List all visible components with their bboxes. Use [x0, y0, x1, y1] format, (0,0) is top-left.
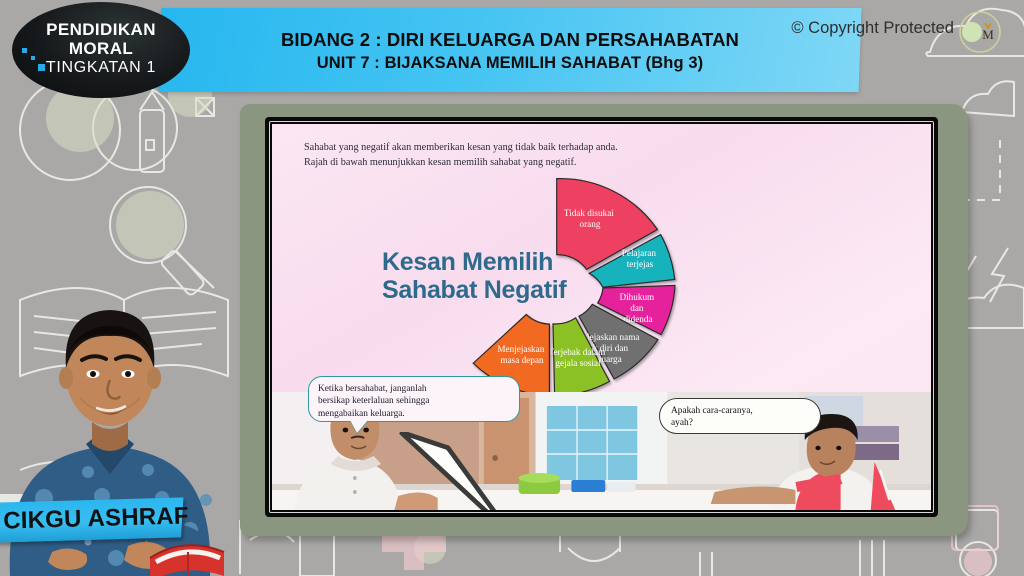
- header-title-block: BIDANG 2 : DIRI KELUARGA DAN PERSAHABATA…: [170, 12, 850, 90]
- segment-label-line: dan: [630, 303, 644, 313]
- segment-label-line: Terjebak dalam: [548, 347, 605, 357]
- slide-frame: Sahabat yang negatif akan memberikan kes…: [240, 104, 968, 536]
- caption-line3: mengabaikan keluarga.: [318, 408, 510, 420]
- segment-label-line: gejala sosial: [555, 358, 601, 368]
- logo-line-tingkatan: TINGKATAN 1: [46, 58, 156, 79]
- slide-bezel: Sahabat yang negatif akan memberikan kes…: [265, 117, 938, 517]
- svg-text:M: M: [982, 27, 994, 42]
- segment-label-line: Menjejaskan: [497, 344, 544, 354]
- copyright-notice: © Copyright Protected: [791, 19, 954, 38]
- segment-label-line: didenda: [623, 314, 652, 324]
- caption-line1: Ketika bersahabat, janganlah: [318, 383, 510, 395]
- presenter-name: CIKGU ASHRAF: [6, 499, 187, 538]
- segment-label-line: orang: [580, 219, 601, 229]
- speech-line1: Apakah cara-caranya,: [671, 405, 809, 417]
- svg-text:Pelajaran terjej: Pelajaran terjejas: [622, 248, 658, 269]
- slide-canvas: Sahabat yang negatif akan memberikan kes…: [272, 124, 931, 510]
- header-line-bidang: BIDANG 2 : DIRI KELUARGA DAN PERSAHABATA…: [281, 29, 739, 51]
- slide-paragraph-line1: Sahabat yang negatif akan memberikan kes…: [304, 142, 618, 153]
- segment-label-line: terjejas: [627, 259, 654, 269]
- caption-bubble: Ketika bersahabat, janganlah bersikap ke…: [308, 376, 520, 422]
- speech-bubble: Apakah cara-caranya, ayah?: [659, 398, 821, 434]
- course-logo: PENDIDIKAN MORAL TINGKATAN 1: [12, 2, 190, 98]
- logo-line-moral: MORAL: [69, 39, 133, 58]
- slide-paragraph-line2: Rajah di bawah menunjukkan kesan memilih…: [304, 155, 903, 170]
- copyright-badge-icon: M: [958, 10, 1002, 54]
- logo-line-pendidikan: PENDIDIKAN: [46, 21, 156, 39]
- segment-label-line: masa depan: [500, 355, 544, 365]
- segment-label-line: Tidak disukai: [564, 208, 614, 218]
- speech-bubble-tail: [272, 432, 801, 510]
- diagram-title-line2: Sahabat Negatif: [382, 276, 567, 304]
- caption-line2: bersikap keterlaluan sehingga: [318, 395, 510, 407]
- slide-paragraph: Sahabat yang negatif akan memberikan kes…: [304, 140, 903, 171]
- segment-label-line: Pelajaran: [622, 248, 657, 258]
- svg-text:Menjejaskan masa: Menjejaskan masa depan: [497, 344, 546, 365]
- segment-label-line: Dihukum: [619, 292, 654, 302]
- diagram-title-line1: Kesan Memilih: [382, 248, 553, 276]
- header-line-unit: UNIT 7 : BIJAKSANA MEMILIH SAHABAT (Bhg …: [317, 54, 703, 73]
- speech-line2: ayah?: [671, 417, 809, 429]
- svg-text:Terjebak dalam g: Terjebak dalam gejala sosial: [548, 347, 607, 368]
